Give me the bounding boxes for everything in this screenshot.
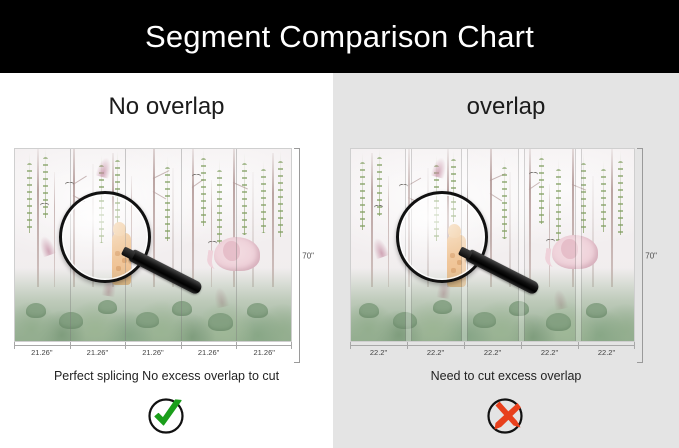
panel-overlap: overlap xyxy=(333,73,679,448)
leaf xyxy=(136,312,159,328)
figure-overlap: 70" 22.2" 22.2" 22.2" 22.2" xyxy=(350,148,635,363)
panel-seam xyxy=(236,149,237,341)
ruler-segment-value: 22.2" xyxy=(521,348,578,357)
tree-trunk xyxy=(529,148,531,287)
panel-heading-no-overlap: No overlap xyxy=(0,93,333,121)
panel-seam-overlap xyxy=(405,149,412,341)
willow-vine xyxy=(117,151,118,224)
ruler-segment-value: 21.26" xyxy=(236,348,292,357)
ruler-segment: 22.2" xyxy=(350,345,407,363)
comparison-panels: No overlap xyxy=(0,73,679,448)
tree-trunk xyxy=(73,148,75,287)
willow-vine xyxy=(558,159,559,249)
verdict-no-overlap xyxy=(0,393,333,437)
panel-seam-overlap xyxy=(461,149,468,341)
height-bracket xyxy=(637,148,643,363)
verdict-overlap xyxy=(333,393,679,437)
bird xyxy=(374,203,383,208)
ruler-segment: 21.26" xyxy=(14,345,70,363)
ruler-segment: 22.2" xyxy=(521,345,578,363)
panel-seam xyxy=(181,149,182,341)
leaf xyxy=(98,300,117,314)
bird xyxy=(192,172,201,177)
bird xyxy=(40,201,49,206)
ruler-segment: 21.26" xyxy=(181,345,237,363)
willow-vine xyxy=(167,157,168,241)
panel-no-overlap: No overlap xyxy=(0,73,333,448)
ruler-segment: 21.26" xyxy=(125,345,181,363)
tree-trunk xyxy=(192,148,194,287)
leaf xyxy=(546,313,571,331)
height-bracket xyxy=(294,148,300,363)
willow-vine xyxy=(45,149,46,218)
panel-seam xyxy=(125,149,126,341)
height-label-no-overlap: 70" xyxy=(302,251,314,260)
willow-vine xyxy=(219,159,220,251)
leaf xyxy=(208,313,233,331)
willow-vine xyxy=(263,161,264,234)
willow-vine xyxy=(244,153,245,236)
willow-vine xyxy=(541,149,542,224)
ruler-segment: 21.26" xyxy=(70,345,126,363)
tree-trunk xyxy=(37,149,39,287)
ruler-segment: 22.2" xyxy=(578,345,635,363)
willow-vine xyxy=(583,153,584,234)
panel-heading-overlap: overlap xyxy=(333,93,679,121)
mural-image-no-overlap xyxy=(14,148,292,342)
willow-vine xyxy=(620,151,621,235)
leaf xyxy=(473,312,496,328)
tree-trunk xyxy=(153,148,155,287)
willow-vine xyxy=(504,157,505,240)
leaf xyxy=(172,301,192,316)
ruler-segment-value: 22.2" xyxy=(578,348,635,357)
willow-vine xyxy=(203,149,204,226)
tree-trunk xyxy=(611,149,613,287)
leaf xyxy=(247,303,268,318)
ruler-segment-value: 22.2" xyxy=(464,348,521,357)
willow-vine xyxy=(280,151,281,237)
willow-vine xyxy=(453,151,454,222)
page-title-bar: Segment Comparison Chart xyxy=(0,0,679,73)
caption-no-overlap: Perfect splicing No excess overlap to cu… xyxy=(0,369,333,383)
height-label-overlap: 70" xyxy=(645,251,657,260)
willow-vine xyxy=(362,153,363,230)
mural-image-overlap xyxy=(350,148,635,342)
bird xyxy=(546,237,555,242)
ruler-segment-value: 21.26" xyxy=(70,348,126,357)
page-title: Segment Comparison Chart xyxy=(145,19,534,55)
leaf xyxy=(433,300,452,314)
leaf xyxy=(26,303,46,318)
panel-seam-overlap xyxy=(518,149,525,341)
ruler-segment-value: 22.2" xyxy=(350,348,407,357)
figure-no-overlap: 70" 21.26" 21.26" 21.26" 21.26" xyxy=(14,148,292,363)
leaf xyxy=(359,303,379,318)
check-mark-icon xyxy=(145,393,189,437)
panel-seam xyxy=(70,149,71,341)
bird xyxy=(208,239,217,244)
ruler-segment-value: 22.2" xyxy=(407,348,464,357)
ruler-segment: 21.26" xyxy=(236,345,292,363)
ruler-no-overlap: 21.26" 21.26" 21.26" 21.26" 21.26 xyxy=(14,345,292,363)
willow-vine xyxy=(29,153,30,234)
ruler-segment-value: 21.26" xyxy=(181,348,237,357)
tree-trunk xyxy=(490,148,492,287)
ruler-segment-value: 21.26" xyxy=(125,348,181,357)
cross-mark-icon xyxy=(484,393,528,437)
caption-overlap: Need to cut excess overlap xyxy=(333,369,679,383)
ruler-segment: 22.2" xyxy=(407,345,464,363)
ruler-segment-value: 21.26" xyxy=(14,348,70,357)
leaf xyxy=(586,303,607,318)
willow-vine xyxy=(603,161,604,232)
bird xyxy=(65,180,74,185)
bird xyxy=(529,170,538,175)
panel-seam-overlap xyxy=(575,149,582,341)
ruler-segment: 22.2" xyxy=(464,345,521,363)
ruler-overlap: 22.2" 22.2" 22.2" 22.2" 22.2" xyxy=(350,345,635,363)
